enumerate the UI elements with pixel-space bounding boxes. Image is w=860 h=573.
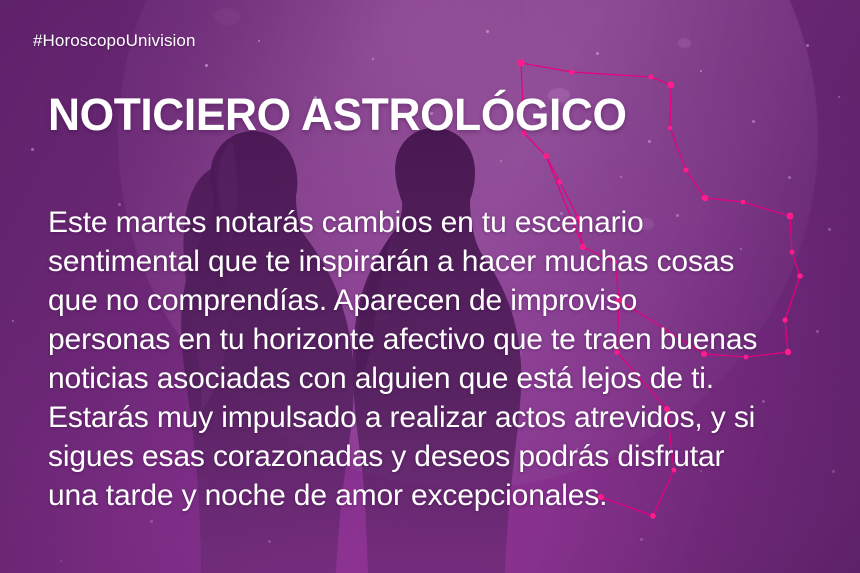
- horoscope-card: #HoroscopoUnivision NOTICIERO ASTROLÓGIC…: [0, 0, 860, 573]
- horoscope-body-text: Este martes notarás cambios en tu escena…: [48, 203, 840, 515]
- body-line: sentimental que te inspirarán a hacer mu…: [48, 242, 840, 281]
- page-title: NOTICIERO ASTROLÓGICO: [48, 91, 627, 138]
- body-line: personas en tu horizonte afectivo que te…: [48, 320, 840, 359]
- card-content: #HoroscopoUnivision NOTICIERO ASTROLÓGIC…: [0, 0, 860, 573]
- body-line: que no comprendías. Aparecen de improvis…: [48, 281, 840, 320]
- body-line: una tarde y noche de amor excepcionales.: [48, 476, 840, 515]
- body-line: Este martes notarás cambios en tu escena…: [48, 203, 840, 242]
- body-line: Estarás muy impulsado a realizar actos a…: [48, 398, 840, 437]
- hashtag-label: #HoroscopoUnivision: [33, 31, 196, 51]
- body-line: noticias asociadas con alguien que está …: [48, 359, 840, 398]
- body-line: sigues esas corazonadas y deseos podrás …: [48, 437, 840, 476]
